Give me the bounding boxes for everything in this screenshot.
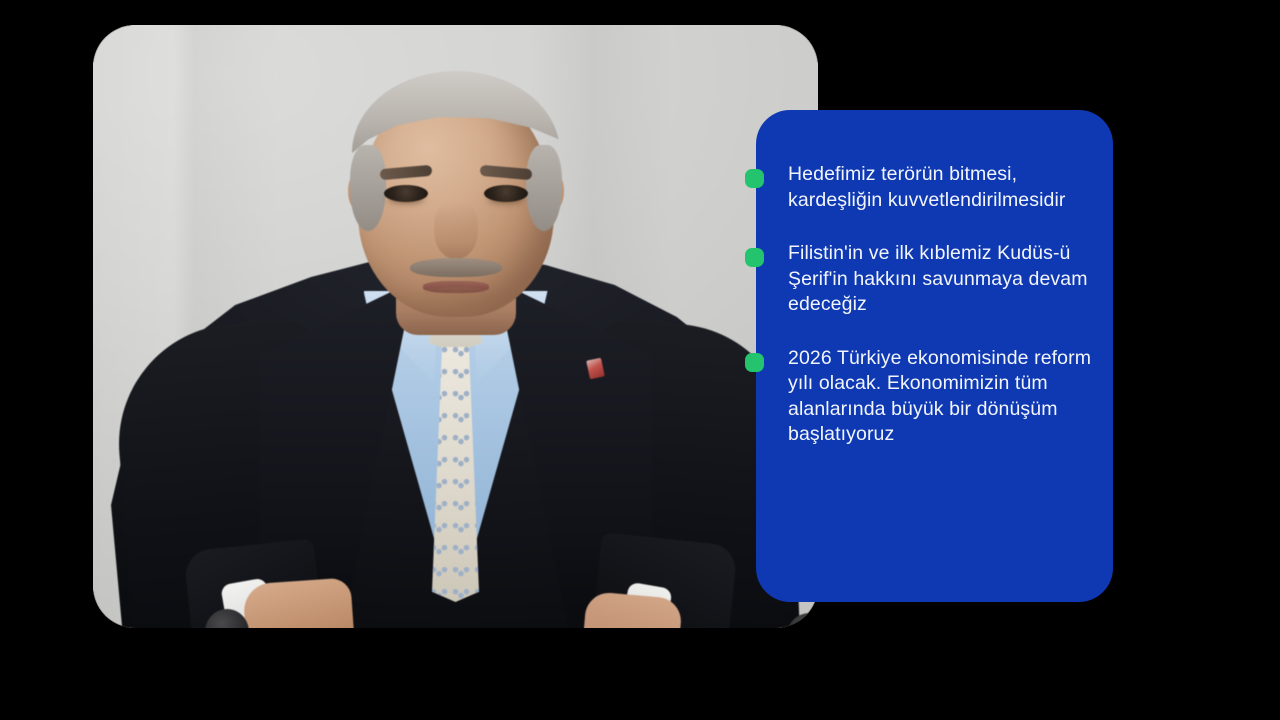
nose (434, 201, 478, 259)
hand-left (242, 577, 355, 628)
flag-lapel-pin (586, 358, 605, 380)
eye-right (484, 185, 528, 202)
slide-canvas: Hedefimiz terörün bitmesi, kardeşliğin k… (0, 0, 1280, 720)
list-item: Filistin'in ve ilk kıblemiz Kudüs-ü Şeri… (788, 241, 1094, 318)
hair-side-left (350, 145, 386, 231)
eye-left (384, 185, 428, 202)
list-item: 2026 Türkiye ekonomisinde reform yılı ol… (788, 346, 1094, 448)
bullet-text: 2026 Türkiye ekonomisinde reform yılı ol… (788, 346, 1094, 448)
bullet-text: Hedefimiz terörün bitmesi, kardeşliğin k… (788, 162, 1094, 213)
bullet-text: Filistin'in ve ilk kıblemiz Kudüs-ü Şeri… (788, 241, 1094, 318)
bullet-dot-icon (745, 353, 764, 372)
photo-subject (93, 25, 818, 628)
speaker-photo (93, 25, 818, 628)
quote-card: Hedefimiz terörün bitmesi, kardeşliğin k… (756, 110, 1113, 602)
hair-side-right (526, 145, 562, 231)
bullet-dot-icon (745, 248, 764, 267)
moustache (410, 258, 502, 277)
list-item: Hedefimiz terörün bitmesi, kardeşliğin k… (788, 162, 1094, 213)
bullet-dot-icon (745, 169, 764, 188)
chin-shadow (395, 287, 517, 327)
bullet-list: Hedefimiz terörün bitmesi, kardeşliğin k… (788, 162, 1094, 448)
